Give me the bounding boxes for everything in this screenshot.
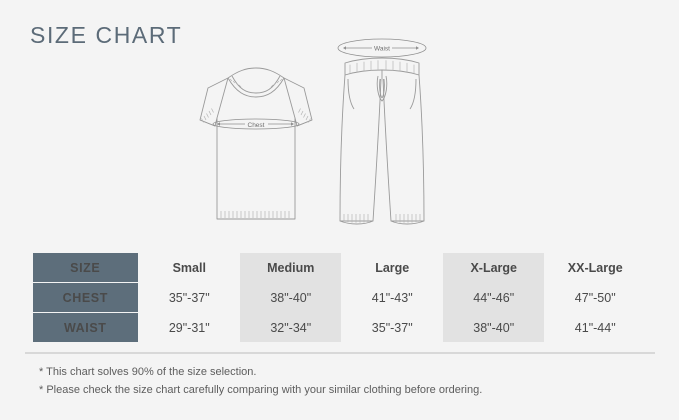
table-row-waist: WAIST 29"-31" 32"-34" 35"-37" 38"-40" 41… [33,313,646,342]
chest-measure-label: Chest [248,122,265,129]
chest-xx-large: 47"-50" [544,283,646,313]
header-cell-large: Large [341,253,442,283]
footnote-1: * This chart solves 90% of the size sele… [39,363,639,381]
row-header-waist: WAIST [33,313,139,342]
section-divider [25,352,655,354]
waist-medium: 32"-34" [240,313,341,342]
row-header-size: SIZE [33,253,139,283]
waist-large: 35"-37" [341,313,442,342]
pants-illustration: Waist [318,35,446,252]
header-cell-x-large: X-Large [443,253,544,283]
chest-medium: 38"-40" [240,283,341,313]
waist-x-large: 38"-40" [443,313,544,342]
header-cell-small: Small [139,253,240,283]
table-row-size: SIZE Small Medium Large X-Large XX-Large [33,253,646,283]
waist-measure-label: Waist [374,46,390,53]
chest-large: 41"-43" [341,283,442,313]
footnote-2: * Please check the size chart carefully … [39,381,639,399]
chest-small: 35"-37" [139,283,240,313]
chest-x-large: 44"-46" [443,283,544,313]
header-cell-xx-large: XX-Large [544,253,646,283]
footnotes: * This chart solves 90% of the size sele… [39,363,639,399]
header-cell-medium: Medium [240,253,341,283]
size-chart-page: SIZE CHART [0,0,679,420]
table-row-chest: CHEST 35"-37" 38"-40" 41"-43" 44"-46" 47… [33,283,646,313]
waist-xx-large: 41"-44" [544,313,646,342]
row-header-chest: CHEST [33,283,139,313]
illustrations-area: Chest [0,30,679,245]
waist-small: 29"-31" [139,313,240,342]
tshirt-illustration: Chest [196,62,316,245]
size-chart-table: SIZE Small Medium Large X-Large XX-Large… [33,253,646,342]
